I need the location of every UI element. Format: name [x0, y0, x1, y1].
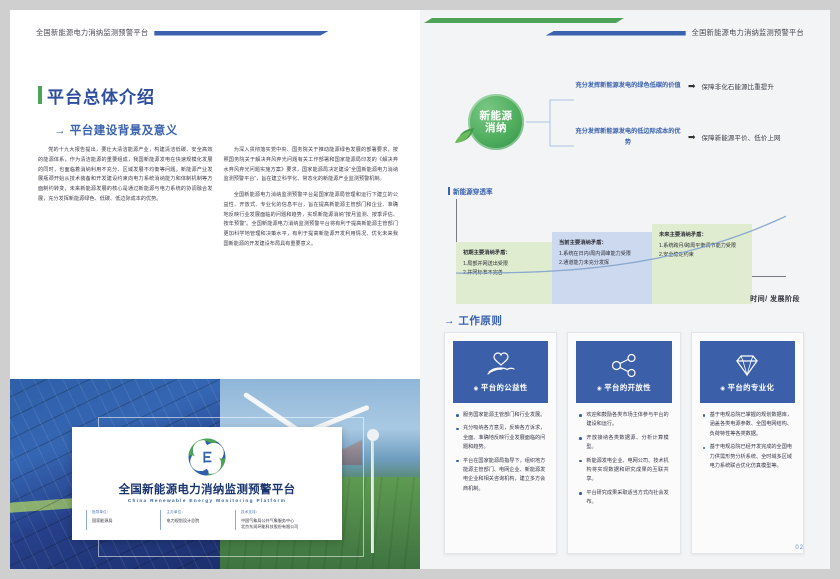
bullet: 欢迎和鼓励各类市场主体参与平台的建设和运行。	[579, 411, 668, 430]
running-header-right: 全国新能源电力消纳监测预警平台	[546, 28, 804, 38]
header-rule-blue-right	[546, 31, 686, 36]
meta-item: 技术支持： 中国气象局公共气象服务中心 北京东润环能科技股份有限公司	[235, 510, 328, 530]
body-column-2: 为深入贯彻落实党中央、国务院关于推动能源绿色发展的部署要求，按照国务院关于解决弃…	[224, 146, 399, 366]
header-rule-green	[424, 18, 624, 23]
card-title: 平台的开放性	[597, 382, 651, 393]
page-right: 全国新能源电力消纳监测预警平台 新能源 消纳 充分发挥新能源发电的绿色低碳的价值…	[420, 10, 830, 569]
share-network-icon	[609, 352, 639, 378]
chart-x-axis-label: 时间/ 发展阶段	[750, 294, 800, 304]
diamond-icon	[732, 352, 762, 378]
brochure-spread: 全国新能源电力消纳监测预警平台 平台总体介绍 → 平台建设背景及意义 党的十九大…	[0, 0, 840, 579]
section-subtitle: → 平台建设背景及意义	[54, 122, 178, 138]
body-columns: 党的十九大报告提出，要壮大清洁能源产业，构建清洁低碳、安全高效的能源体系，作为清…	[38, 146, 398, 366]
mindmap-effect: 保障非化石能源比重提升	[702, 82, 775, 91]
logo-card: 全国新能源电力消纳监测预警平台 China Renewable Energy M…	[72, 427, 342, 540]
running-header-left-text: 全国新能源电力消纳监测预警平台	[36, 28, 148, 38]
mindmap-cause: 充分发挥新能源发电的绿色低碳的价值	[574, 81, 682, 92]
arrow-right-icon: ➡	[688, 132, 696, 143]
bullet: 新能源发电企业、电网公司、技术机构将实现数据和研究成果的互联共享。	[579, 457, 668, 485]
meta-value: 中国气象局公共气象服务中心 北京东润环能科技股份有限公司	[241, 518, 328, 531]
mindmap-effect: 保障新能源平价、低价上网	[702, 133, 781, 142]
logo-subtitle: China Renewable Energy Monitoring Platfo…	[72, 498, 342, 503]
mindmap-item: 充分发挥新能源发电的绿色低碳的价值 ➡ 保障非化石能源比重提升	[574, 81, 774, 92]
bullet: 开放接纳各类数据源、分析计算模型。	[579, 434, 668, 453]
section-title: 平台总体介绍	[38, 83, 155, 108]
bullet: 基于电规总院已掌握的规划数据库，涵盖各类电源参数、全国电网结构、负荷特性等各类数…	[703, 411, 792, 439]
bullet: 平台研究成果采取适当方式向社会发布。	[579, 489, 668, 508]
meta-key: 技术支持：	[241, 510, 328, 515]
mindmap-cause: 充分发挥新能源发电的低边际成本的优势	[574, 127, 682, 148]
principle-card-openness[interactable]: 平台的开放性 欢迎和鼓励各类市场主体参与平台的建设和运行。 开放接纳各类数据源、…	[567, 332, 680, 554]
running-header-right-text: 全国新能源电力消纳监测预警平台	[692, 28, 804, 38]
logo-meta-row: 指导单位： 国家能源局 主办单位： 电力规划设计总院 技术支持： 中国气象局公共…	[72, 510, 342, 530]
meta-value: 国家能源局	[92, 518, 156, 524]
bullet: 服务国家能源主管部门和行业发展。	[456, 411, 545, 420]
arrow-right-icon: ➡	[688, 81, 696, 92]
card-header: 平台的公益性	[453, 341, 548, 403]
principle-card-professionalism[interactable]: 平台的专业化 基于电规总院已掌握的规划数据库，涵盖各类电源参数、全国电网结构、负…	[691, 332, 804, 554]
card-header: 平台的开放性	[576, 341, 671, 403]
bullet: 平台在国家能源局指导下，组织地方能源主管部门、电网企业、新能源发电企业和相关咨询…	[456, 457, 545, 495]
paragraph: 党的十九大报告提出，要壮大清洁能源产业，构建清洁低碳、安全高效的能源体系，作为清…	[38, 146, 213, 205]
chart-y-axis-label: 新能源穿透率	[448, 186, 493, 196]
meta-item: 指导单位： 国家能源局	[86, 510, 156, 530]
recycle-swirl-logo-icon	[185, 435, 229, 479]
paragraph: 为深入贯彻落实党中央、国务院关于推动能源绿色发展的部署要求，按照国务院关于解决弃…	[224, 146, 399, 185]
penetration-rate-chart: 新能源穿透率 初期主要消纳矛盾： 1.局部并网送出受限 2.并网标准不完善 当前…	[444, 186, 804, 304]
turbine-tower	[371, 435, 375, 553]
principle-card-public-welfare[interactable]: 平台的公益性 服务国家能源主管部门和行业发展。 充分吸纳各方意见，反映各方诉求，…	[444, 332, 557, 554]
card-bullets: 服务国家能源主管部门和行业发展。 充分吸纳各方意见，反映各方诉求，全面、准确地反…	[453, 403, 548, 494]
principles-title: → 工作原则	[444, 313, 502, 328]
mindmap-item: 充分发挥新能源发电的低边际成本的优势 ➡ 保障新能源平价、低价上网	[574, 127, 781, 148]
running-header-left: 全国新能源电力消纳监测预警平台	[36, 28, 329, 38]
turbine-hub	[367, 429, 379, 441]
card-bullets: 基于电规总院已掌握的规划数据库，涵盖各类电源参数、全国电网结构、负荷特性等各类数…	[700, 403, 795, 471]
bullet: 基于电规总院已经开发完成的全国电力供需形势分析系统、全时域多区域电力系统联合优化…	[703, 443, 792, 471]
hero-collage: 全国新能源电力消纳监测预警平台 China Renewable Energy M…	[10, 379, 420, 569]
logo-title: 全国新能源电力消纳监测预警平台	[72, 481, 342, 497]
card-title: 平台的专业化	[720, 382, 774, 393]
bullet: 充分吸纳各方意见，反映各方诉求，全面、准确地反映行业发展面临的问题和趋势。	[456, 424, 545, 452]
mindmap: 新能源 消纳 充分发挥新能源发电的绿色低碳的价值 ➡ 保障非化石能源比重提升 充…	[428, 76, 822, 180]
meta-key: 主办单位：	[166, 510, 230, 515]
meta-key: 指导单位：	[92, 510, 156, 515]
meta-value: 电力规划设计总院	[166, 518, 230, 524]
principles-cards: 平台的公益性 服务国家能源主管部门和行业发展。 充分吸纳各方意见，反映各方诉求，…	[444, 332, 804, 554]
header-rule-blue-left	[154, 31, 329, 36]
body-column-1: 党的十九大报告提出，要壮大清洁能源产业，构建清洁低碳、安全高效的能源体系，作为清…	[38, 146, 213, 366]
card-title: 平台的公益性	[474, 382, 528, 393]
card-header: 平台的专业化	[700, 341, 795, 403]
page-number-right: 02	[795, 545, 804, 551]
heart-in-hand-icon	[486, 352, 516, 378]
card-bullets: 欢迎和鼓励各类市场主体参与平台的建设和运行。 开放接纳各类数据源、分析计算模型。…	[576, 403, 671, 507]
paragraph: 全国新能源电力消纳监测预警平台是国家能源局管理和运行下建立的公益性、开放式、专业…	[224, 191, 399, 250]
meta-item: 主办单位： 电力规划设计总院	[160, 510, 230, 530]
chart-trend-curve	[456, 199, 786, 277]
